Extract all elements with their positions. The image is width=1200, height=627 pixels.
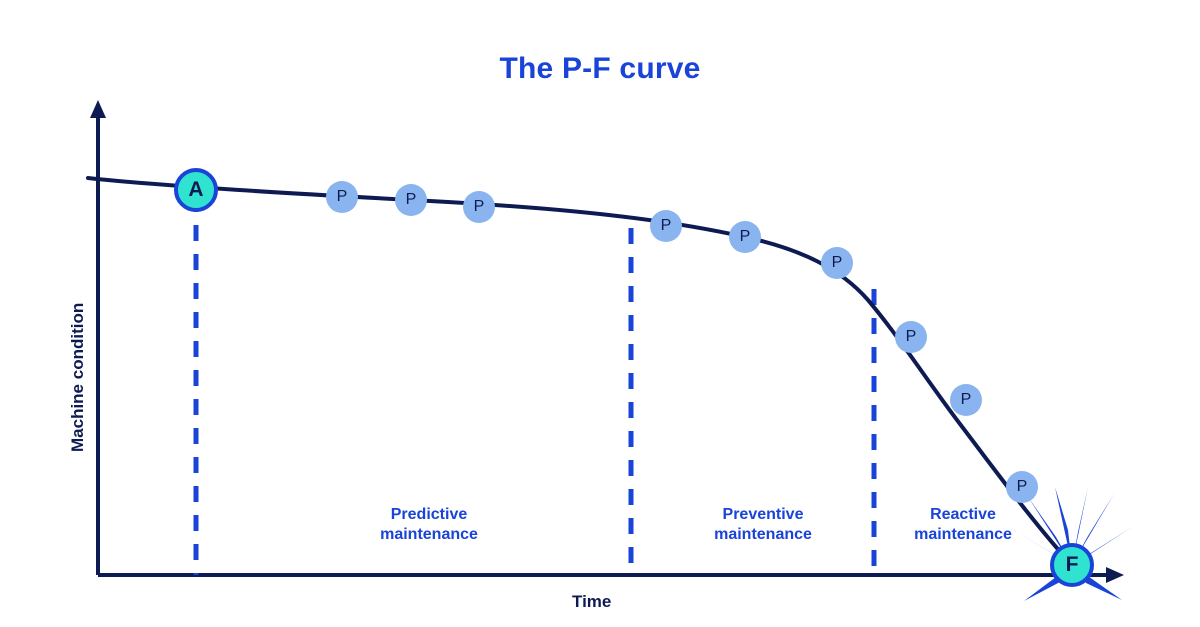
y-axis <box>90 100 106 575</box>
node-p-3[interactable]: P <box>463 191 495 223</box>
node-p-1[interactable]: P <box>326 181 358 213</box>
node-p-7[interactable]: P <box>895 321 927 353</box>
y-axis-label: Machine condition <box>68 303 88 452</box>
zone-label-reactive: Reactive maintenance <box>863 505 1063 545</box>
x-axis-label: Time <box>572 592 611 612</box>
x-axis <box>98 567 1124 583</box>
pf-curve-chart: The P-F curve <box>0 0 1200 627</box>
node-p-8[interactable]: P <box>950 384 982 416</box>
node-p-9[interactable]: P <box>1006 471 1038 503</box>
node-a[interactable]: A <box>174 168 218 212</box>
node-f[interactable]: F <box>1050 543 1094 587</box>
node-p-5[interactable]: P <box>729 221 761 253</box>
node-p-4[interactable]: P <box>650 210 682 242</box>
node-p-2[interactable]: P <box>395 184 427 216</box>
node-p-6[interactable]: P <box>821 247 853 279</box>
zone-label-predictive: Predictive maintenance <box>329 505 529 545</box>
zone-label-preventive: Preventive maintenance <box>663 505 863 545</box>
